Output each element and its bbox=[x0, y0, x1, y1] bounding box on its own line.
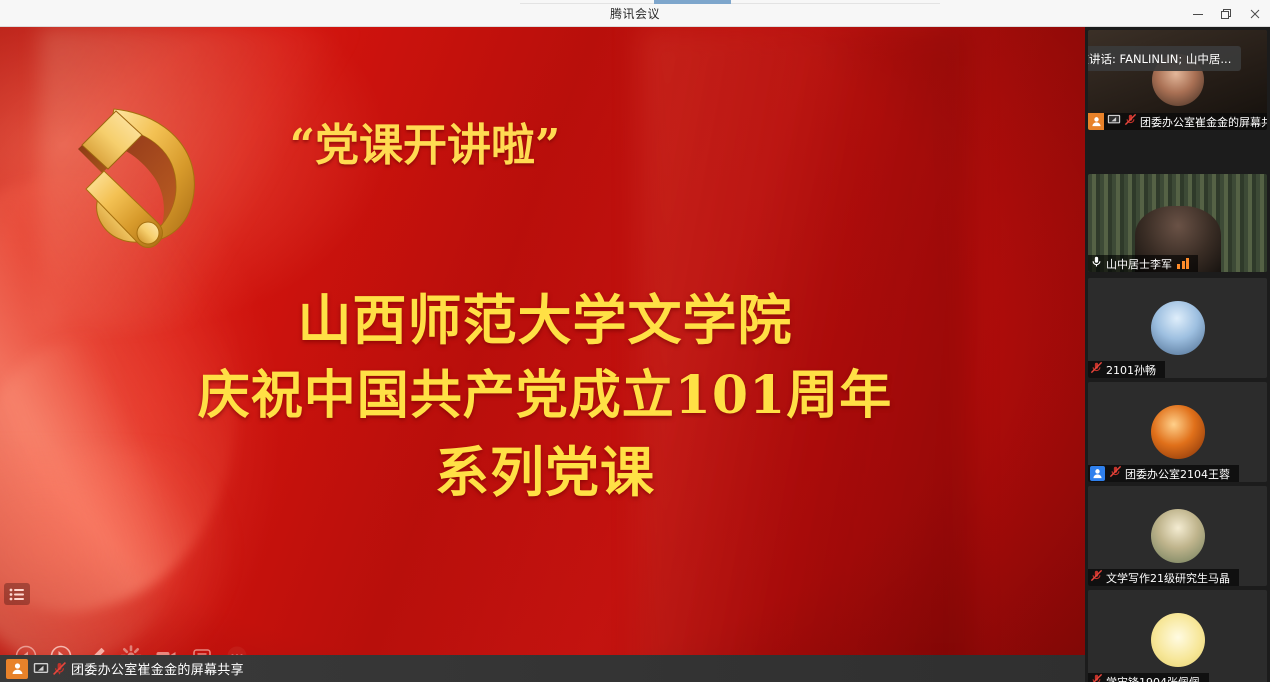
avatar bbox=[1151, 405, 1205, 459]
shared-screen-area[interactable]: “党课开讲啦” 山西师范大学文学院 庆祝中国共产党成立101周年 系列党课 bbox=[0, 27, 1085, 682]
participant-name: 文学写作21级研究生马晶 bbox=[1106, 570, 1230, 586]
screen-share-icon bbox=[33, 662, 49, 676]
speaking-toast-text: 正在讲话: FANLINLIN; 山中居... bbox=[1088, 51, 1231, 67]
avatar bbox=[1151, 301, 1205, 355]
avatar bbox=[1151, 509, 1205, 563]
participant-name-bar: 山中居士李军 bbox=[1088, 255, 1198, 272]
speaking-toast: 正在讲话: FANLINLIN; 山中居... bbox=[1088, 46, 1241, 71]
window-titlebar: 腾讯会议 bbox=[0, 0, 1270, 27]
cpc-hammer-sickle-emblem bbox=[52, 91, 227, 261]
participant-name: 团委办公室崔金金的屏幕共享 bbox=[1140, 114, 1267, 130]
active-tab-indicator[interactable] bbox=[654, 0, 731, 4]
participant-tile[interactable]: 团委办公室崔金金的屏幕共享 正在讲话: FANLINLIN; 山中居... bbox=[1088, 30, 1267, 130]
mic-muted-icon bbox=[1090, 361, 1103, 379]
mic-muted-icon bbox=[52, 661, 67, 676]
participant-tile[interactable]: 团委办公室2104王蓉 bbox=[1088, 382, 1267, 482]
window-title: 腾讯会议 bbox=[610, 5, 660, 22]
participant-name-bar: 团委办公室崔金金的屏幕共享 bbox=[1088, 113, 1267, 130]
participant-name-bar: 学宙锋1904张佩佩 bbox=[1088, 673, 1209, 682]
tab-strip bbox=[520, 0, 940, 4]
minimize-button[interactable] bbox=[1184, 0, 1212, 27]
slide-list-button[interactable] bbox=[4, 583, 30, 605]
slide-line-3: 系列党课 bbox=[80, 434, 1010, 511]
host-icon bbox=[1090, 466, 1105, 481]
participant-tile[interactable]: 文学写作21级研究生马晶 bbox=[1088, 486, 1267, 586]
participant-tile[interactable]: 2101孙畅 bbox=[1088, 278, 1267, 378]
slide-line-2: 庆祝中国共产党成立101周年 bbox=[80, 359, 1010, 433]
slide-heading: “党课开讲啦” bbox=[215, 123, 635, 169]
participant-name-bar: 2101孙畅 bbox=[1088, 361, 1165, 378]
participant-rail[interactable]: 团委办公室崔金金的屏幕共享 正在讲话: FANLINLIN; 山中居... bbox=[1085, 27, 1270, 682]
close-button[interactable] bbox=[1240, 0, 1270, 27]
host-icon bbox=[1088, 113, 1104, 130]
slide-line-1: 山西师范大学文学院 bbox=[80, 282, 1010, 359]
mic-muted-icon bbox=[1090, 673, 1103, 682]
slide-body: 山西师范大学文学院 庆祝中国共产党成立101周年 系列党课 bbox=[80, 282, 1010, 511]
mic-on-icon bbox=[1090, 255, 1103, 273]
participant-name-bar: 团委办公室2104王蓉 bbox=[1088, 465, 1239, 482]
mic-muted-icon bbox=[1090, 569, 1103, 587]
participant-name: 学宙锋1904张佩佩 bbox=[1106, 674, 1200, 682]
participant-name: 山中居士李军 bbox=[1106, 256, 1172, 272]
avatar bbox=[1151, 613, 1205, 667]
person-icon bbox=[6, 659, 28, 679]
participant-tile[interactable]: 山中居士李军 bbox=[1088, 174, 1267, 272]
maximize-restore-button[interactable] bbox=[1212, 0, 1240, 27]
participant-name-bar: 文学写作21级研究生马晶 bbox=[1088, 569, 1239, 586]
participant-name: 团委办公室2104王蓉 bbox=[1125, 466, 1230, 482]
window-controls bbox=[1184, 0, 1270, 27]
meeting-window-body: “党课开讲啦” 山西师范大学文学院 庆祝中国共产党成立101周年 系列党课 bbox=[0, 27, 1270, 682]
mic-muted-icon bbox=[1124, 113, 1137, 131]
mic-muted-icon bbox=[1109, 465, 1122, 483]
share-status-bar: 团委办公室崔金金的屏幕共享 bbox=[0, 655, 1085, 682]
share-status-text: 团委办公室崔金金的屏幕共享 bbox=[71, 659, 244, 678]
participant-name: 2101孙畅 bbox=[1106, 362, 1156, 378]
participant-tile[interactable]: 学宙锋1904张佩佩 bbox=[1088, 590, 1267, 682]
audio-level-meter bbox=[1177, 258, 1189, 269]
screen-share-icon bbox=[1107, 113, 1121, 131]
